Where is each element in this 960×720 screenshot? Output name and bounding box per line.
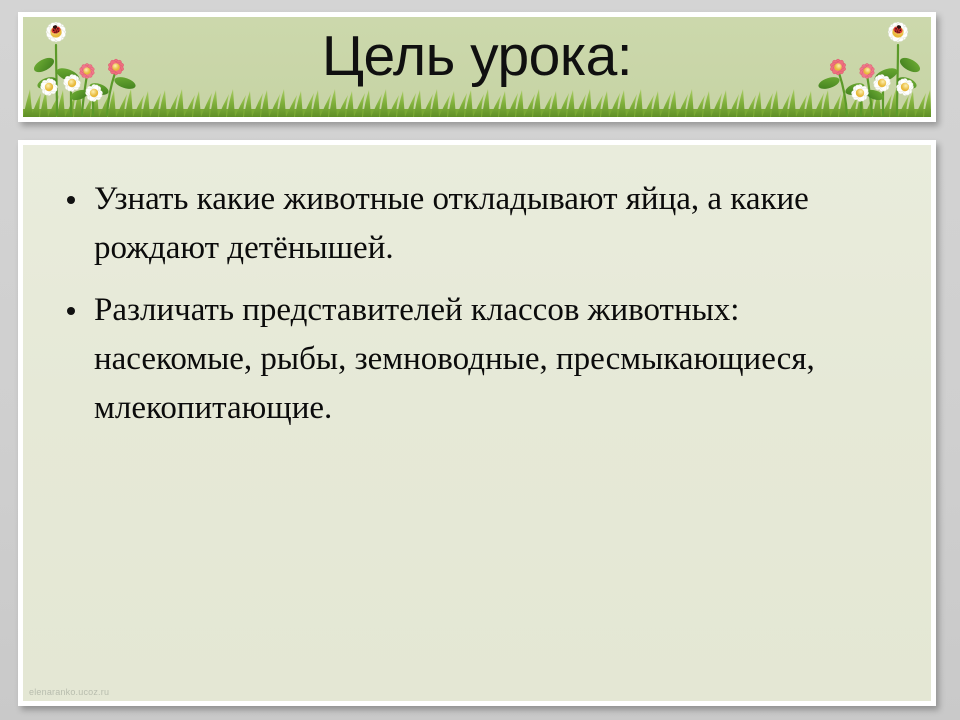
bullet-list: Узнать какие животные откладывают яйца, … xyxy=(23,145,931,433)
flower-cluster-left xyxy=(27,17,162,117)
title-panel: Цель урока: xyxy=(18,12,936,122)
title-panel-inner: Цель урока: xyxy=(23,17,931,117)
content-panel-inner: Узнать какие животные откладывают яйца, … xyxy=(23,145,931,701)
flower-cluster-right xyxy=(792,17,927,117)
pink-flower-right-2 xyxy=(829,58,846,75)
watermark: elenaranko.ucoz.ru xyxy=(29,687,109,698)
pink-flower-right-1 xyxy=(859,63,876,79)
pink-flower-left-1 xyxy=(79,63,96,79)
list-item: Узнать какие животные откладывают яйца, … xyxy=(61,175,901,273)
content-panel: Узнать какие животные откладывают яйца, … xyxy=(18,140,936,706)
pink-flower-left-2 xyxy=(107,58,124,75)
list-item: Различать представителей классов животны… xyxy=(61,286,901,433)
slide: Цель урока: xyxy=(0,0,960,720)
